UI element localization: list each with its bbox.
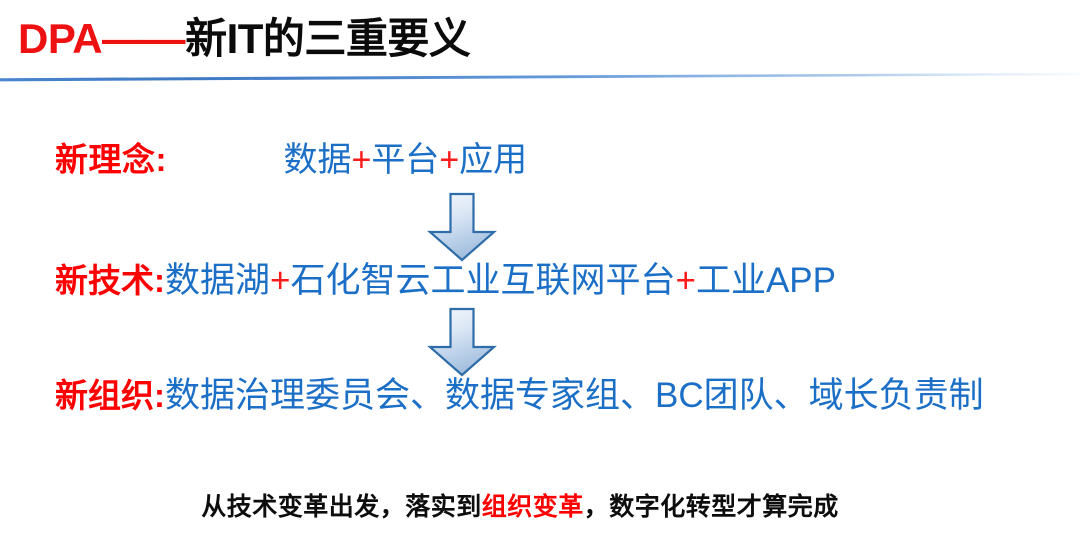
title-divider-shape xyxy=(0,68,1080,84)
row-concept-part-3: 应用 xyxy=(459,141,527,179)
page-title: DPA——新IT的三重要义 xyxy=(18,12,1058,70)
row-org: 新组织:数据治理委员会、数据专家组、BC团队、域长负责制 xyxy=(55,378,1070,424)
row-org-part-1: 数据治理委员会、数据专家组、BC团队、域长负责制 xyxy=(165,376,984,415)
row-concept: 新理念: 数据+平台+应用 xyxy=(55,143,1065,189)
row-tech-plus-1: + xyxy=(270,261,290,300)
title-divider xyxy=(0,68,1080,84)
row-tech-part-3: 工业APP xyxy=(696,261,836,300)
down-arrow-icon xyxy=(426,307,498,377)
row-tech: 新技术:数据湖+石化智云工业互联网平台+工业APP xyxy=(55,263,1065,309)
row-org-label: 新组织: xyxy=(55,377,165,414)
row-concept-plus-2: + xyxy=(439,141,459,179)
page-title-prefix: DPA—— xyxy=(18,15,185,62)
row-tech-part-1: 数据湖 xyxy=(165,261,270,300)
row-tech-plus-2: + xyxy=(675,261,695,300)
row-concept-part-2: 平台 xyxy=(371,141,439,179)
row-tech-part-2: 石化智云工业互联网平台 xyxy=(290,261,675,300)
row-concept-plus-1: + xyxy=(351,141,371,179)
footer-caption: 从技术变革出发，落实到组织变革，数字化转型才算完成 xyxy=(0,487,1040,523)
footer-segment-1: 从技术变革出发，落实到 xyxy=(201,493,482,521)
down-arrow-icon xyxy=(426,192,498,262)
down-arrow-shape xyxy=(426,307,498,377)
row-concept-label: 新理念: xyxy=(55,141,167,178)
down-arrow-shape xyxy=(426,192,498,262)
slide-canvas: DPA——新IT的三重要义 新理念: 数据+平台+应用 xyxy=(0,0,1080,558)
footer-segment-2: ，数字化转型才算完成 xyxy=(584,493,839,521)
row-tech-label: 新技术: xyxy=(55,262,165,299)
footer-highlight: 组织变革 xyxy=(482,493,584,521)
row-concept-part-1: 数据 xyxy=(283,141,351,179)
page-title-main: 新IT的三重要义 xyxy=(185,15,470,62)
row-concept-value: 数据+平台+应用 xyxy=(283,143,527,177)
